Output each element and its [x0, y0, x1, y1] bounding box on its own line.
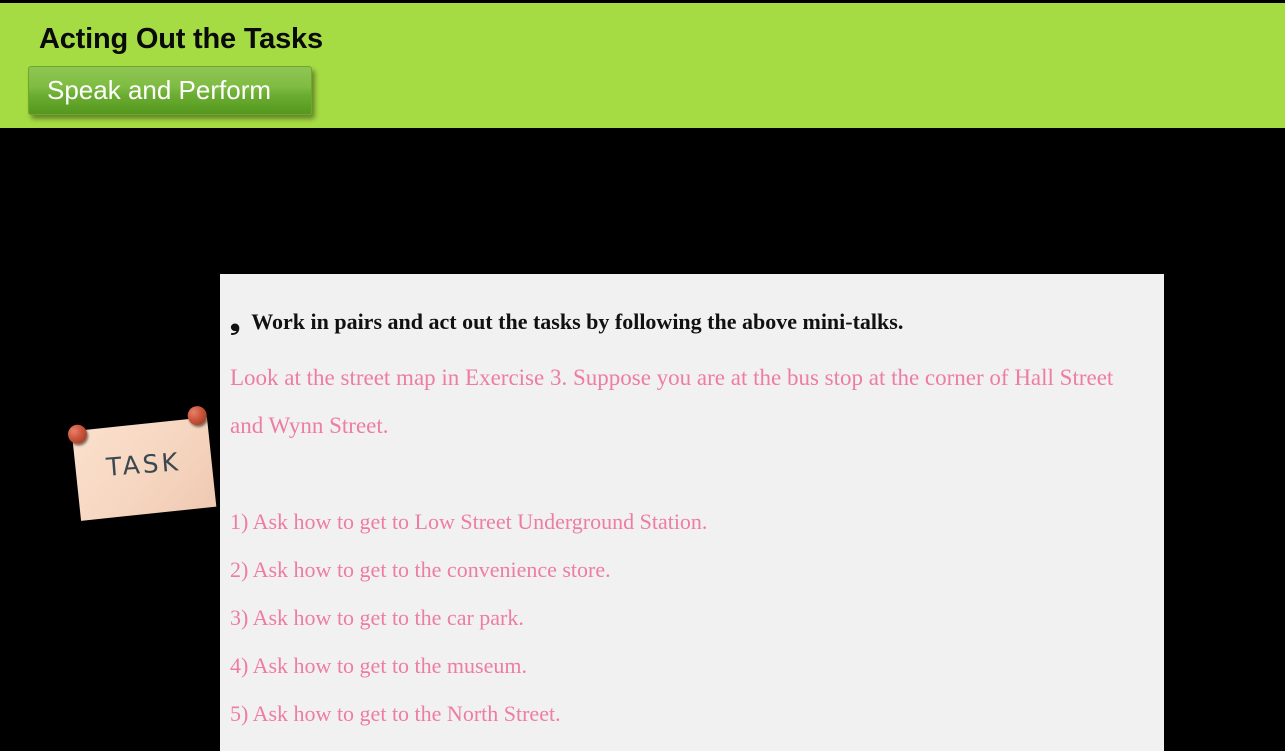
list-item: 4) Ask how to get to the museum. [230, 642, 1140, 690]
task-list: 1) Ask how to get to Low Street Undergro… [230, 498, 1140, 738]
list-item: 2) Ask how to get to the convenience sto… [230, 546, 1140, 594]
task-sticky-note: TASK [72, 417, 217, 521]
list-item: 5) Ask how to get to the North Street. [230, 690, 1140, 738]
exercise-heading: ❟ Work in pairs and act out the tasks by… [230, 308, 1140, 335]
list-item: 1) Ask how to get to Low Street Undergro… [230, 498, 1140, 546]
list-item: 3) Ask how to get to the car park. [230, 594, 1140, 642]
page-title: Acting Out the Tasks [39, 23, 323, 56]
exercise-intro-text: Look at the street map in Exercise 3. Su… [230, 354, 1140, 450]
header-banner: Acting Out the Tasks Speak and Perform [0, 3, 1285, 128]
exercise-number-badge: ❟ [230, 308, 240, 334]
exercise-heading-text: Work in pairs and act out the tasks by f… [251, 309, 903, 335]
exercise-panel: ❟ Work in pairs and act out the tasks by… [220, 274, 1164, 751]
speak-and-perform-button[interactable]: Speak and Perform [28, 66, 312, 115]
speak-and-perform-label: Speak and Perform [29, 75, 271, 106]
content-stage: TASK ❟ Work in pairs and act out the tas… [0, 128, 1285, 623]
